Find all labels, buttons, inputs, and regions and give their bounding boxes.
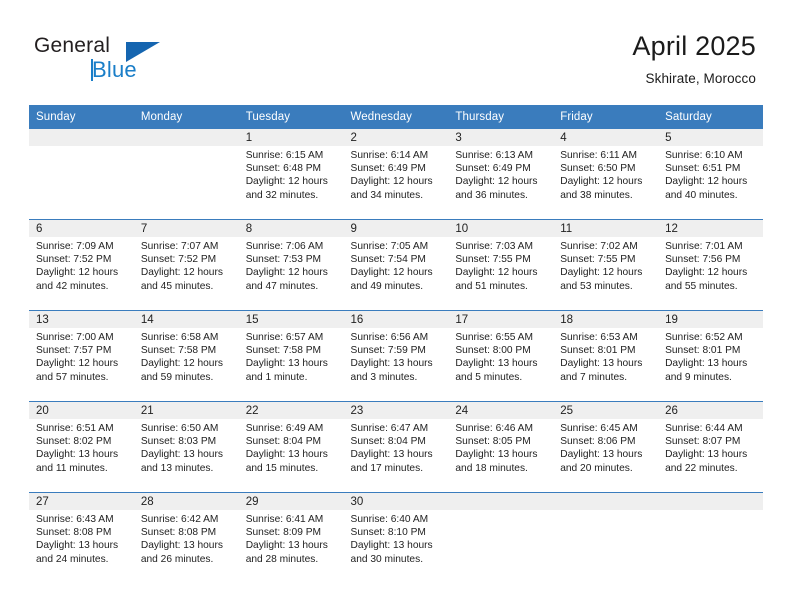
day-detail-daylight2: and 32 minutes. [246, 189, 336, 202]
weekday-header-saturday: Saturday [658, 105, 763, 129]
calendar-day-cell[interactable]: 28Sunrise: 6:42 AMSunset: 8:08 PMDayligh… [134, 493, 239, 584]
day-detail-sunrise: Sunrise: 6:58 AM [141, 331, 231, 344]
day-detail-sunrise: Sunrise: 6:49 AM [246, 422, 336, 435]
day-number: 12 [658, 220, 763, 237]
day-number: 24 [448, 402, 553, 419]
day-detail-daylight1: Daylight: 12 hours [36, 266, 126, 279]
weekday-header-friday: Friday [553, 105, 658, 129]
day-cell-inner: 13Sunrise: 7:00 AMSunset: 7:57 PMDayligh… [29, 311, 134, 401]
day-number: 28 [134, 493, 239, 510]
day-detail-daylight1: Daylight: 12 hours [246, 266, 336, 279]
calendar-day-cell[interactable]: 2Sunrise: 6:14 AMSunset: 6:49 PMDaylight… [344, 129, 449, 220]
day-detail-daylight1: Daylight: 12 hours [246, 175, 336, 188]
calendar-week-row: 1Sunrise: 6:15 AMSunset: 6:48 PMDaylight… [29, 129, 763, 220]
day-number: 26 [658, 402, 763, 419]
day-detail-daylight2: and 40 minutes. [665, 189, 755, 202]
day-detail-sunset: Sunset: 7:56 PM [665, 253, 755, 266]
day-cell-inner: 20Sunrise: 6:51 AMSunset: 8:02 PMDayligh… [29, 402, 134, 492]
day-cell-inner [658, 493, 763, 583]
day-detail-daylight1: Daylight: 12 hours [141, 357, 231, 370]
day-detail-sunrise: Sunrise: 7:02 AM [560, 240, 650, 253]
day-detail-sunset: Sunset: 7:52 PM [36, 253, 126, 266]
day-detail-sunset: Sunset: 8:04 PM [246, 435, 336, 448]
day-detail-daylight2: and 49 minutes. [351, 280, 441, 293]
day-detail-sunset: Sunset: 6:48 PM [246, 162, 336, 175]
calendar-week-row: 27Sunrise: 6:43 AMSunset: 8:08 PMDayligh… [29, 493, 763, 584]
day-number: 19 [658, 311, 763, 328]
day-detail-sunset: Sunset: 7:54 PM [351, 253, 441, 266]
day-detail-sunset: Sunset: 8:02 PM [36, 435, 126, 448]
day-cell-inner: 18Sunrise: 6:53 AMSunset: 8:01 PMDayligh… [553, 311, 658, 401]
day-cell-inner: 15Sunrise: 6:57 AMSunset: 7:58 PMDayligh… [239, 311, 344, 401]
day-detail-daylight1: Daylight: 12 hours [351, 266, 441, 279]
calendar-day-cell[interactable]: 10Sunrise: 7:03 AMSunset: 7:55 PMDayligh… [448, 220, 553, 311]
day-detail-daylight1: Daylight: 13 hours [351, 448, 441, 461]
day-detail-daylight1: Daylight: 13 hours [455, 448, 545, 461]
day-cell-inner: 28Sunrise: 6:42 AMSunset: 8:08 PMDayligh… [134, 493, 239, 583]
day-number: 13 [29, 311, 134, 328]
calendar-table: Sunday Monday Tuesday Wednesday Thursday… [29, 105, 763, 583]
day-number: 27 [29, 493, 134, 510]
day-detail-sunset: Sunset: 8:03 PM [141, 435, 231, 448]
day-details: Sunrise: 6:46 AMSunset: 8:05 PMDaylight:… [448, 419, 553, 475]
day-detail-daylight1: Daylight: 12 hours [560, 266, 650, 279]
day-detail-sunset: Sunset: 8:10 PM [351, 526, 441, 539]
weekday-header-tuesday: Tuesday [239, 105, 344, 129]
weekday-header-monday: Monday [134, 105, 239, 129]
logo-text-blue: Blue [92, 57, 137, 83]
day-detail-sunset: Sunset: 7:55 PM [455, 253, 545, 266]
day-detail-daylight1: Daylight: 12 hours [455, 266, 545, 279]
day-detail-sunrise: Sunrise: 6:40 AM [351, 513, 441, 526]
day-detail-daylight2: and 57 minutes. [36, 371, 126, 384]
day-details: Sunrise: 6:51 AMSunset: 8:02 PMDaylight:… [29, 419, 134, 475]
day-number: 30 [344, 493, 449, 510]
calendar-week-row: 6Sunrise: 7:09 AMSunset: 7:52 PMDaylight… [29, 220, 763, 311]
calendar-day-cell[interactable]: 22Sunrise: 6:49 AMSunset: 8:04 PMDayligh… [239, 402, 344, 493]
weekday-header-thursday: Thursday [448, 105, 553, 129]
day-cell-inner: 24Sunrise: 6:46 AMSunset: 8:05 PMDayligh… [448, 402, 553, 492]
day-details: Sunrise: 6:57 AMSunset: 7:58 PMDaylight:… [239, 328, 344, 384]
day-detail-daylight1: Daylight: 12 hours [455, 175, 545, 188]
day-number: 20 [29, 402, 134, 419]
day-number: 18 [553, 311, 658, 328]
calendar-day-cell[interactable]: 5Sunrise: 6:10 AMSunset: 6:51 PMDaylight… [658, 129, 763, 220]
day-detail-daylight2: and 38 minutes. [560, 189, 650, 202]
day-detail-sunset: Sunset: 8:01 PM [560, 344, 650, 357]
calendar-day-cell[interactable]: 14Sunrise: 6:58 AMSunset: 7:58 PMDayligh… [134, 311, 239, 402]
calendar-head: Sunday Monday Tuesday Wednesday Thursday… [29, 105, 763, 129]
day-detail-sunrise: Sunrise: 6:47 AM [351, 422, 441, 435]
calendar-day-cell[interactable]: 7Sunrise: 7:07 AMSunset: 7:52 PMDaylight… [134, 220, 239, 311]
day-detail-daylight2: and 15 minutes. [246, 462, 336, 475]
day-detail-daylight1: Daylight: 12 hours [351, 175, 441, 188]
day-detail-sunrise: Sunrise: 6:42 AM [141, 513, 231, 526]
day-details: Sunrise: 6:42 AMSunset: 8:08 PMDaylight:… [134, 510, 239, 566]
day-detail-sunrise: Sunrise: 7:09 AM [36, 240, 126, 253]
day-cell-inner: 17Sunrise: 6:55 AMSunset: 8:00 PMDayligh… [448, 311, 553, 401]
day-details: Sunrise: 6:13 AMSunset: 6:49 PMDaylight:… [448, 146, 553, 202]
day-number: 21 [134, 402, 239, 419]
day-detail-sunset: Sunset: 8:07 PM [665, 435, 755, 448]
day-detail-sunset: Sunset: 6:51 PM [665, 162, 755, 175]
day-detail-sunrise: Sunrise: 7:07 AM [141, 240, 231, 253]
day-cell-inner: 11Sunrise: 7:02 AMSunset: 7:55 PMDayligh… [553, 220, 658, 310]
day-detail-sunrise: Sunrise: 7:06 AM [246, 240, 336, 253]
day-detail-daylight1: Daylight: 13 hours [665, 448, 755, 461]
day-detail-sunrise: Sunrise: 6:53 AM [560, 331, 650, 344]
day-detail-sunrise: Sunrise: 7:01 AM [665, 240, 755, 253]
day-cell-inner: 12Sunrise: 7:01 AMSunset: 7:56 PMDayligh… [658, 220, 763, 310]
day-detail-sunrise: Sunrise: 6:43 AM [36, 513, 126, 526]
calendar-day-cell[interactable]: 1Sunrise: 6:15 AMSunset: 6:48 PMDaylight… [239, 129, 344, 220]
day-number [134, 129, 239, 146]
day-cell-inner [134, 129, 239, 219]
day-number: 16 [344, 311, 449, 328]
day-detail-sunset: Sunset: 8:01 PM [665, 344, 755, 357]
calendar-day-cell[interactable]: 21Sunrise: 6:50 AMSunset: 8:03 PMDayligh… [134, 402, 239, 493]
day-detail-daylight2: and 42 minutes. [36, 280, 126, 293]
calendar-day-cell[interactable]: 27Sunrise: 6:43 AMSunset: 8:08 PMDayligh… [29, 493, 134, 584]
day-number: 6 [29, 220, 134, 237]
day-cell-inner: 30Sunrise: 6:40 AMSunset: 8:10 PMDayligh… [344, 493, 449, 583]
day-cell-inner: 27Sunrise: 6:43 AMSunset: 8:08 PMDayligh… [29, 493, 134, 583]
day-number [29, 129, 134, 146]
day-cell-inner: 22Sunrise: 6:49 AMSunset: 8:04 PMDayligh… [239, 402, 344, 492]
day-detail-daylight2: and 51 minutes. [455, 280, 545, 293]
day-detail-sunset: Sunset: 7:55 PM [560, 253, 650, 266]
day-detail-sunset: Sunset: 8:06 PM [560, 435, 650, 448]
day-number: 7 [134, 220, 239, 237]
day-cell-inner: 4Sunrise: 6:11 AMSunset: 6:50 PMDaylight… [553, 129, 658, 219]
calendar-day-cell[interactable]: 15Sunrise: 6:57 AMSunset: 7:58 PMDayligh… [239, 311, 344, 402]
page-header: General Blue April 2025 Skhirate, Morocc… [0, 0, 792, 104]
day-detail-daylight2: and 55 minutes. [665, 280, 755, 293]
day-cell-inner: 19Sunrise: 6:52 AMSunset: 8:01 PMDayligh… [658, 311, 763, 401]
day-number: 11 [553, 220, 658, 237]
calendar-page: General Blue April 2025 Skhirate, Morocc… [0, 0, 792, 612]
calendar-day-cell[interactable]: 16Sunrise: 6:56 AMSunset: 7:59 PMDayligh… [344, 311, 449, 402]
day-detail-daylight1: Daylight: 13 hours [560, 448, 650, 461]
calendar-day-cell[interactable]: 23Sunrise: 6:47 AMSunset: 8:04 PMDayligh… [344, 402, 449, 493]
calendar-day-cell[interactable]: 11Sunrise: 7:02 AMSunset: 7:55 PMDayligh… [553, 220, 658, 311]
calendar-day-cell-empty [658, 493, 763, 584]
day-detail-daylight1: Daylight: 13 hours [36, 448, 126, 461]
day-details: Sunrise: 6:43 AMSunset: 8:08 PMDaylight:… [29, 510, 134, 566]
day-detail-sunrise: Sunrise: 6:46 AM [455, 422, 545, 435]
day-detail-daylight2: and 17 minutes. [351, 462, 441, 475]
day-detail-daylight1: Daylight: 13 hours [246, 357, 336, 370]
page-title: April 2025 [632, 30, 756, 62]
day-detail-daylight2: and 59 minutes. [141, 371, 231, 384]
day-detail-sunset: Sunset: 8:09 PM [246, 526, 336, 539]
day-detail-daylight1: Daylight: 12 hours [36, 357, 126, 370]
day-detail-sunrise: Sunrise: 6:11 AM [560, 149, 650, 162]
day-detail-sunset: Sunset: 6:50 PM [560, 162, 650, 175]
day-detail-sunrise: Sunrise: 7:05 AM [351, 240, 441, 253]
day-details: Sunrise: 7:01 AMSunset: 7:56 PMDaylight:… [658, 237, 763, 293]
calendar-day-cell[interactable]: 20Sunrise: 6:51 AMSunset: 8:02 PMDayligh… [29, 402, 134, 493]
calendar-day-cell[interactable]: 19Sunrise: 6:52 AMSunset: 8:01 PMDayligh… [658, 311, 763, 402]
calendar-day-cell[interactable]: 24Sunrise: 6:46 AMSunset: 8:05 PMDayligh… [448, 402, 553, 493]
day-detail-daylight2: and 36 minutes. [455, 189, 545, 202]
day-detail-sunrise: Sunrise: 6:55 AM [455, 331, 545, 344]
day-cell-inner: 21Sunrise: 6:50 AMSunset: 8:03 PMDayligh… [134, 402, 239, 492]
day-cell-inner: 7Sunrise: 7:07 AMSunset: 7:52 PMDaylight… [134, 220, 239, 310]
day-detail-daylight2: and 26 minutes. [141, 553, 231, 566]
day-detail-daylight1: Daylight: 13 hours [141, 448, 231, 461]
day-detail-daylight1: Daylight: 13 hours [455, 357, 545, 370]
day-details: Sunrise: 6:58 AMSunset: 7:58 PMDaylight:… [134, 328, 239, 384]
day-details: Sunrise: 6:55 AMSunset: 8:00 PMDaylight:… [448, 328, 553, 384]
calendar-day-cell[interactable]: 3Sunrise: 6:13 AMSunset: 6:49 PMDaylight… [448, 129, 553, 220]
calendar-week-row: 20Sunrise: 6:51 AMSunset: 8:02 PMDayligh… [29, 402, 763, 493]
day-number: 14 [134, 311, 239, 328]
day-cell-inner: 8Sunrise: 7:06 AMSunset: 7:53 PMDaylight… [239, 220, 344, 310]
day-detail-sunrise: Sunrise: 6:10 AM [665, 149, 755, 162]
general-blue-logo[interactable]: General Blue [34, 34, 214, 86]
day-detail-sunset: Sunset: 7:58 PM [246, 344, 336, 357]
day-number: 8 [239, 220, 344, 237]
day-number: 22 [239, 402, 344, 419]
day-detail-daylight2: and 45 minutes. [141, 280, 231, 293]
day-detail-sunrise: Sunrise: 6:15 AM [246, 149, 336, 162]
day-number: 17 [448, 311, 553, 328]
day-detail-daylight1: Daylight: 12 hours [665, 175, 755, 188]
title-block: April 2025 Skhirate, Morocco [632, 30, 756, 87]
calendar-day-cell[interactable]: 4Sunrise: 6:11 AMSunset: 6:50 PMDaylight… [553, 129, 658, 220]
day-cell-inner: 23Sunrise: 6:47 AMSunset: 8:04 PMDayligh… [344, 402, 449, 492]
day-details: Sunrise: 6:44 AMSunset: 8:07 PMDaylight:… [658, 419, 763, 475]
day-detail-sunrise: Sunrise: 6:56 AM [351, 331, 441, 344]
day-detail-daylight2: and 20 minutes. [560, 462, 650, 475]
day-detail-sunrise: Sunrise: 6:52 AM [665, 331, 755, 344]
day-detail-sunrise: Sunrise: 7:00 AM [36, 331, 126, 344]
day-detail-daylight2: and 34 minutes. [351, 189, 441, 202]
calendar-day-cell[interactable]: 17Sunrise: 6:55 AMSunset: 8:00 PMDayligh… [448, 311, 553, 402]
day-detail-sunrise: Sunrise: 6:50 AM [141, 422, 231, 435]
day-detail-sunset: Sunset: 8:08 PM [36, 526, 126, 539]
day-detail-sunrise: Sunrise: 7:03 AM [455, 240, 545, 253]
day-cell-inner: 25Sunrise: 6:45 AMSunset: 8:06 PMDayligh… [553, 402, 658, 492]
day-details: Sunrise: 7:02 AMSunset: 7:55 PMDaylight:… [553, 237, 658, 293]
day-details: Sunrise: 7:05 AMSunset: 7:54 PMDaylight:… [344, 237, 449, 293]
day-number: 3 [448, 129, 553, 146]
calendar-grid: Sunday Monday Tuesday Wednesday Thursday… [29, 105, 763, 583]
day-cell-inner: 10Sunrise: 7:03 AMSunset: 7:55 PMDayligh… [448, 220, 553, 310]
calendar-day-cell[interactable]: 30Sunrise: 6:40 AMSunset: 8:10 PMDayligh… [344, 493, 449, 584]
day-details: Sunrise: 7:03 AMSunset: 7:55 PMDaylight:… [448, 237, 553, 293]
day-detail-sunset: Sunset: 8:04 PM [351, 435, 441, 448]
day-detail-sunset: Sunset: 8:05 PM [455, 435, 545, 448]
day-detail-daylight2: and 53 minutes. [560, 280, 650, 293]
calendar-day-cell[interactable]: 9Sunrise: 7:05 AMSunset: 7:54 PMDaylight… [344, 220, 449, 311]
day-detail-daylight2: and 3 minutes. [351, 371, 441, 384]
day-detail-daylight2: and 47 minutes. [246, 280, 336, 293]
day-details: Sunrise: 6:14 AMSunset: 6:49 PMDaylight:… [344, 146, 449, 202]
day-cell-inner [448, 493, 553, 583]
day-detail-daylight2: and 1 minute. [246, 371, 336, 384]
day-detail-daylight1: Daylight: 12 hours [560, 175, 650, 188]
day-detail-daylight1: Daylight: 13 hours [351, 357, 441, 370]
day-detail-daylight2: and 28 minutes. [246, 553, 336, 566]
day-details: Sunrise: 6:10 AMSunset: 6:51 PMDaylight:… [658, 146, 763, 202]
calendar-day-cell[interactable]: 12Sunrise: 7:01 AMSunset: 7:56 PMDayligh… [658, 220, 763, 311]
day-detail-sunset: Sunset: 7:53 PM [246, 253, 336, 266]
day-detail-sunrise: Sunrise: 6:13 AM [455, 149, 545, 162]
day-details: Sunrise: 6:15 AMSunset: 6:48 PMDaylight:… [239, 146, 344, 202]
logo-text-general: General [34, 34, 110, 58]
day-details: Sunrise: 6:41 AMSunset: 8:09 PMDaylight:… [239, 510, 344, 566]
calendar-day-cell[interactable]: 18Sunrise: 6:53 AMSunset: 8:01 PMDayligh… [553, 311, 658, 402]
day-detail-sunset: Sunset: 7:52 PM [141, 253, 231, 266]
calendar-day-cell[interactable]: 29Sunrise: 6:41 AMSunset: 8:09 PMDayligh… [239, 493, 344, 584]
day-details: Sunrise: 7:00 AMSunset: 7:57 PMDaylight:… [29, 328, 134, 384]
day-cell-inner: 16Sunrise: 6:56 AMSunset: 7:59 PMDayligh… [344, 311, 449, 401]
day-details: Sunrise: 6:40 AMSunset: 8:10 PMDaylight:… [344, 510, 449, 566]
day-detail-sunrise: Sunrise: 6:57 AM [246, 331, 336, 344]
weekday-header-sunday: Sunday [29, 105, 134, 129]
calendar-day-cell-empty [134, 129, 239, 220]
calendar-day-cell[interactable]: 13Sunrise: 7:00 AMSunset: 7:57 PMDayligh… [29, 311, 134, 402]
day-cell-inner [29, 129, 134, 219]
day-details: Sunrise: 7:07 AMSunset: 7:52 PMDaylight:… [134, 237, 239, 293]
day-detail-daylight1: Daylight: 13 hours [560, 357, 650, 370]
day-details: Sunrise: 7:09 AMSunset: 7:52 PMDaylight:… [29, 237, 134, 293]
calendar-day-cell[interactable]: 26Sunrise: 6:44 AMSunset: 8:07 PMDayligh… [658, 402, 763, 493]
day-detail-daylight2: and 18 minutes. [455, 462, 545, 475]
day-details: Sunrise: 6:11 AMSunset: 6:50 PMDaylight:… [553, 146, 658, 202]
weekday-header-wednesday: Wednesday [344, 105, 449, 129]
calendar-day-cell-empty [553, 493, 658, 584]
calendar-day-cell-empty [448, 493, 553, 584]
day-detail-daylight1: Daylight: 12 hours [665, 266, 755, 279]
day-detail-daylight1: Daylight: 13 hours [246, 539, 336, 552]
day-detail-sunrise: Sunrise: 6:41 AM [246, 513, 336, 526]
day-details: Sunrise: 6:50 AMSunset: 8:03 PMDaylight:… [134, 419, 239, 475]
day-detail-daylight1: Daylight: 12 hours [141, 266, 231, 279]
day-details: Sunrise: 6:56 AMSunset: 7:59 PMDaylight:… [344, 328, 449, 384]
day-details: Sunrise: 7:06 AMSunset: 7:53 PMDaylight:… [239, 237, 344, 293]
page-subtitle: Skhirate, Morocco [632, 71, 756, 87]
day-detail-sunset: Sunset: 7:59 PM [351, 344, 441, 357]
calendar-day-cell-empty [29, 129, 134, 220]
day-number: 1 [239, 129, 344, 146]
calendar-day-cell[interactable]: 6Sunrise: 7:09 AMSunset: 7:52 PMDaylight… [29, 220, 134, 311]
day-number: 5 [658, 129, 763, 146]
day-detail-daylight2: and 22 minutes. [665, 462, 755, 475]
day-number [448, 493, 553, 510]
day-detail-daylight2: and 9 minutes. [665, 371, 755, 384]
day-detail-sunset: Sunset: 8:00 PM [455, 344, 545, 357]
day-detail-sunrise: Sunrise: 6:51 AM [36, 422, 126, 435]
day-cell-inner: 26Sunrise: 6:44 AMSunset: 8:07 PMDayligh… [658, 402, 763, 492]
day-detail-sunrise: Sunrise: 6:45 AM [560, 422, 650, 435]
day-detail-daylight1: Daylight: 13 hours [665, 357, 755, 370]
day-details: Sunrise: 6:52 AMSunset: 8:01 PMDaylight:… [658, 328, 763, 384]
day-detail-daylight2: and 13 minutes. [141, 462, 231, 475]
day-detail-daylight1: Daylight: 13 hours [246, 448, 336, 461]
day-cell-inner [553, 493, 658, 583]
day-cell-inner: 2Sunrise: 6:14 AMSunset: 6:49 PMDaylight… [344, 129, 449, 219]
weekday-header-row: Sunday Monday Tuesday Wednesday Thursday… [29, 105, 763, 129]
day-details: Sunrise: 6:49 AMSunset: 8:04 PMDaylight:… [239, 419, 344, 475]
day-details: Sunrise: 6:45 AMSunset: 8:06 PMDaylight:… [553, 419, 658, 475]
day-number: 29 [239, 493, 344, 510]
day-number: 2 [344, 129, 449, 146]
calendar-week-row: 13Sunrise: 7:00 AMSunset: 7:57 PMDayligh… [29, 311, 763, 402]
day-cell-inner: 9Sunrise: 7:05 AMSunset: 7:54 PMDaylight… [344, 220, 449, 310]
day-detail-daylight2: and 5 minutes. [455, 371, 545, 384]
day-details: Sunrise: 6:47 AMSunset: 8:04 PMDaylight:… [344, 419, 449, 475]
day-detail-daylight2: and 11 minutes. [36, 462, 126, 475]
day-detail-daylight1: Daylight: 13 hours [141, 539, 231, 552]
calendar-day-cell[interactable]: 8Sunrise: 7:06 AMSunset: 7:53 PMDaylight… [239, 220, 344, 311]
day-cell-inner: 29Sunrise: 6:41 AMSunset: 8:09 PMDayligh… [239, 493, 344, 583]
day-number: 4 [553, 129, 658, 146]
day-cell-inner: 14Sunrise: 6:58 AMSunset: 7:58 PMDayligh… [134, 311, 239, 401]
day-number [553, 493, 658, 510]
calendar-day-cell[interactable]: 25Sunrise: 6:45 AMSunset: 8:06 PMDayligh… [553, 402, 658, 493]
calendar-body: 1Sunrise: 6:15 AMSunset: 6:48 PMDaylight… [29, 129, 763, 583]
day-detail-sunset: Sunset: 6:49 PM [455, 162, 545, 175]
day-detail-daylight2: and 30 minutes. [351, 553, 441, 566]
day-number [658, 493, 763, 510]
day-number: 23 [344, 402, 449, 419]
day-number: 10 [448, 220, 553, 237]
day-detail-sunset: Sunset: 7:57 PM [36, 344, 126, 357]
day-detail-sunset: Sunset: 7:58 PM [141, 344, 231, 357]
day-cell-inner: 6Sunrise: 7:09 AMSunset: 7:52 PMDaylight… [29, 220, 134, 310]
day-detail-sunset: Sunset: 8:08 PM [141, 526, 231, 539]
day-number: 9 [344, 220, 449, 237]
day-detail-daylight2: and 24 minutes. [36, 553, 126, 566]
day-number: 25 [553, 402, 658, 419]
day-detail-daylight1: Daylight: 13 hours [351, 539, 441, 552]
day-details: Sunrise: 6:53 AMSunset: 8:01 PMDaylight:… [553, 328, 658, 384]
day-detail-daylight1: Daylight: 13 hours [36, 539, 126, 552]
day-detail-sunset: Sunset: 6:49 PM [351, 162, 441, 175]
day-cell-inner: 5Sunrise: 6:10 AMSunset: 6:51 PMDaylight… [658, 129, 763, 219]
day-detail-sunrise: Sunrise: 6:14 AM [351, 149, 441, 162]
day-number: 15 [239, 311, 344, 328]
day-cell-inner: 3Sunrise: 6:13 AMSunset: 6:49 PMDaylight… [448, 129, 553, 219]
day-detail-daylight2: and 7 minutes. [560, 371, 650, 384]
day-detail-sunrise: Sunrise: 6:44 AM [665, 422, 755, 435]
day-cell-inner: 1Sunrise: 6:15 AMSunset: 6:48 PMDaylight… [239, 129, 344, 219]
